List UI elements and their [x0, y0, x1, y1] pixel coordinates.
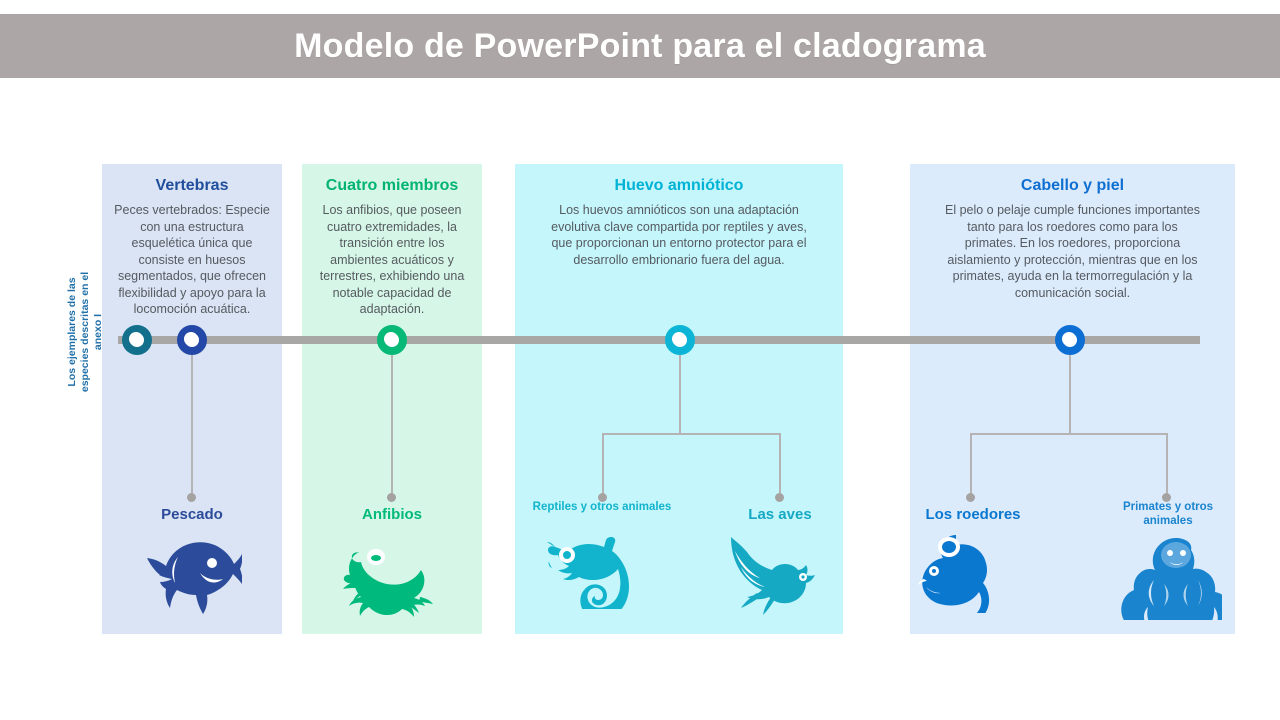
connector-horizontal-huevo [603, 433, 781, 435]
title-bar: Modelo de PowerPoint para el cladograma [0, 14, 1280, 78]
connector-vertical-reptiles [602, 433, 604, 495]
node-cuatro-miembros[interactable] [377, 325, 407, 355]
leaf-primates[interactable]: Primates y otros animales [1100, 501, 1236, 620]
column-title: Vertebras [112, 176, 272, 196]
chameleon-icon [527, 523, 677, 609]
column-description: El pelo o pelaje cumple funciones import… [940, 202, 1205, 301]
connector-dot-roedores [966, 493, 975, 502]
page-title: Modelo de PowerPoint para el cladograma [294, 27, 986, 66]
rat-icon [903, 527, 1043, 613]
node-center [1062, 332, 1076, 346]
leaf-roedores[interactable]: Los roedores [903, 506, 1043, 613]
leaf-anfibios[interactable]: Anfibios [312, 506, 472, 617]
connector-horizontal-cabello [971, 433, 1167, 435]
frog-icon [312, 527, 472, 617]
column-description: Los huevos amnióticos son una adaptación… [545, 202, 813, 268]
leaf-label: Reptiles y otros animales [527, 501, 677, 515]
connector-vertical-anfibios [391, 350, 393, 497]
leaf-label: Anfibios [312, 506, 472, 523]
leaf-pescado[interactable]: Pescado [112, 506, 272, 617]
node-center [384, 332, 398, 346]
leaf-label: Primates y otros animales [1100, 501, 1236, 528]
leaf-label: Los roedores [903, 506, 1043, 523]
node-vertebras[interactable] [177, 325, 207, 355]
connector-vertical-cabello [1069, 350, 1071, 434]
connector-vertical-primates [1166, 433, 1168, 495]
leaf-label: Pescado [112, 506, 272, 523]
column-title: Cabello y piel [940, 176, 1205, 196]
bird-icon [715, 527, 845, 615]
node-huevo-amniotico[interactable] [665, 325, 695, 355]
fish-icon [112, 527, 272, 617]
node-center [129, 332, 143, 346]
connector-dot-aves [775, 493, 784, 502]
node-center [672, 332, 686, 346]
connector-dot-pescado [187, 493, 196, 502]
column-title: Cuatro miembros [312, 176, 472, 196]
column-title: Huevo amniótico [545, 176, 813, 196]
node-center [184, 332, 198, 346]
column-header: Cabello y piel El pelo o pelaje cumple f… [910, 164, 1235, 301]
connector-dot-anfibios [387, 493, 396, 502]
column-description: Peces vertebrados: Especie con una estru… [112, 202, 272, 318]
node-root[interactable] [122, 325, 152, 355]
leaf-label: Las aves [715, 506, 845, 523]
connector-vertical-aves [779, 433, 781, 495]
column-description: Los anfibios, que poseen cuatro extremid… [312, 202, 472, 318]
connector-vertical-pescado [191, 350, 193, 497]
connector-vertical-roedores [970, 433, 972, 495]
leaf-reptiles[interactable]: Reptiles y otros animales [527, 501, 677, 609]
timeline-bar [118, 336, 1200, 344]
connector-vertical-huevo [679, 350, 681, 434]
column-header: Huevo amniótico Los huevos amnióticos so… [515, 164, 843, 268]
gorilla-icon [1100, 536, 1236, 620]
leaf-aves[interactable]: Las aves [715, 506, 845, 615]
column-header: Vertebras Peces vertebrados: Especie con… [102, 164, 282, 318]
column-header: Cuatro miembros Los anfibios, que poseen… [302, 164, 482, 318]
node-cabello-y-piel[interactable] [1055, 325, 1085, 355]
